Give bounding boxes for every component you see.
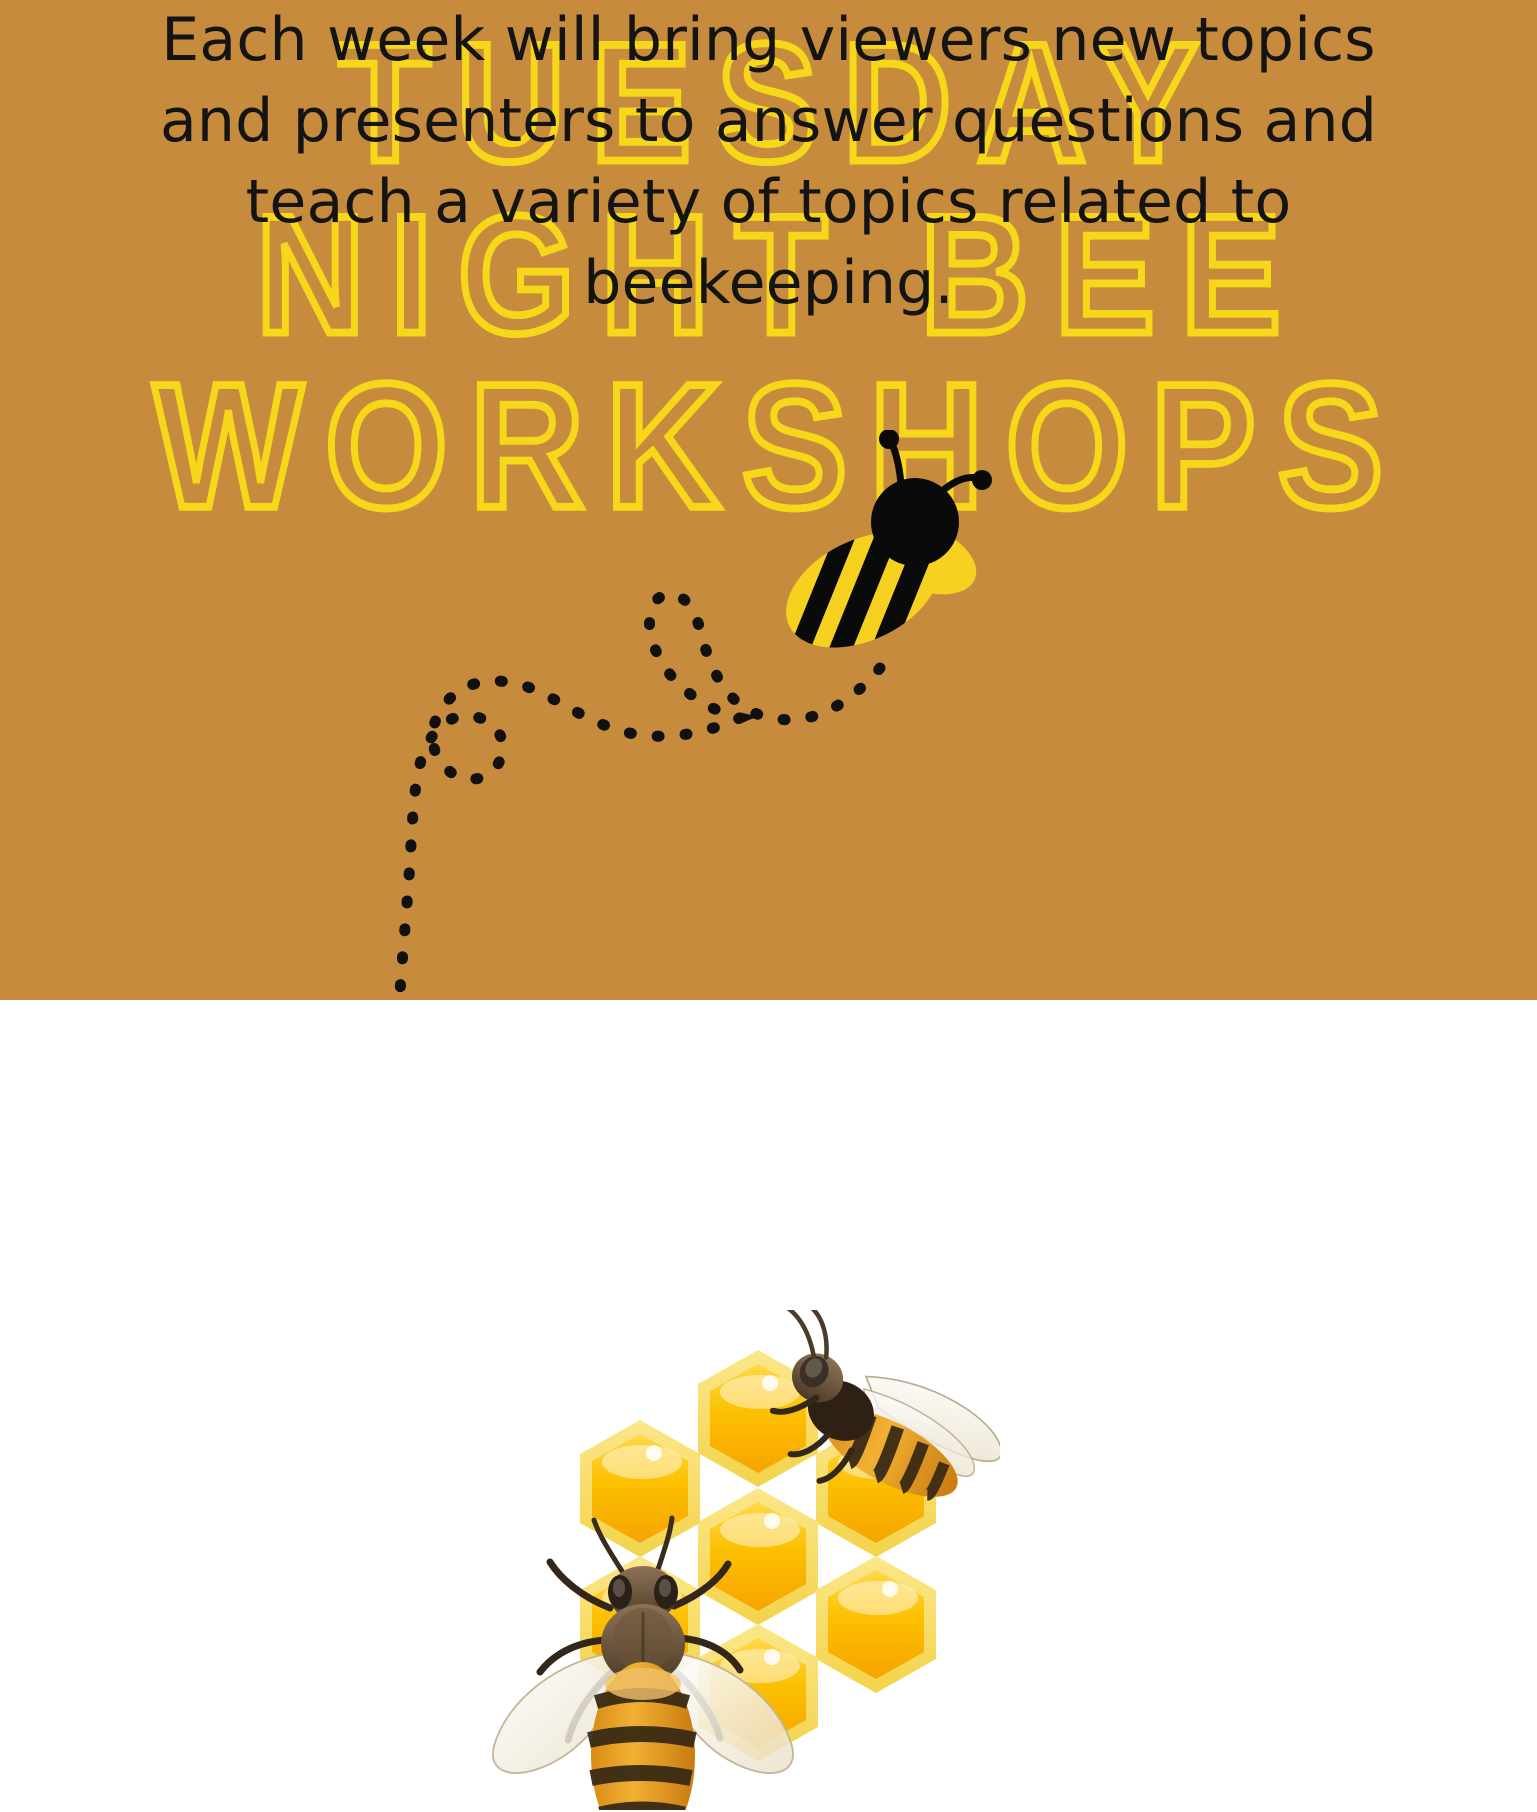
poster-canvas: TUESDAY NIGHT BEE WORKSHOPS xyxy=(0,0,1537,1812)
paragraph-line-4: beekeeping. xyxy=(50,243,1487,324)
honeycomb-with-bees-image xyxy=(440,1310,1000,1810)
description-paragraph: Each week will bring viewers new topics … xyxy=(50,0,1487,324)
paragraph-line-3: teach a variety of topics related to xyxy=(50,162,1487,243)
paragraph-line-1: Each week will bring viewers new topics xyxy=(50,0,1487,81)
cartoon-bee-icon xyxy=(755,430,1015,690)
paragraph-line-2: and presenters to answer questions and xyxy=(50,81,1487,162)
